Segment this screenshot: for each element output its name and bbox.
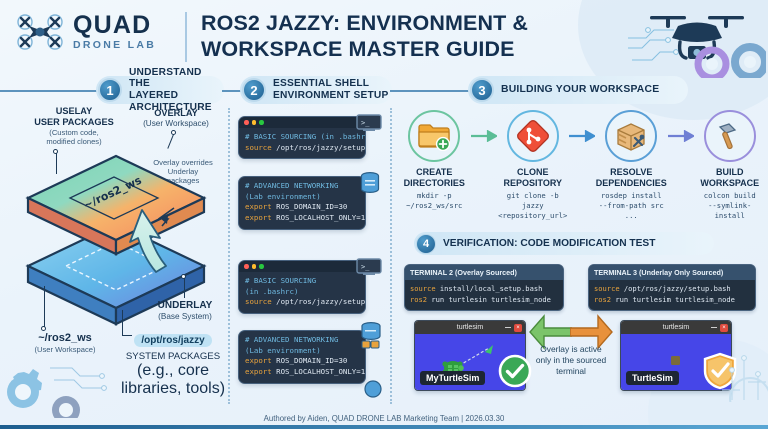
maximize-dot-icon[interactable] [259,120,264,125]
database-icon [360,172,380,194]
terminal-line-cmd: export ROS_LOCALHOST_ONLY=1 [245,213,359,224]
flow-icon-wrap [507,110,559,162]
layered-architecture-panel: USELAY USER PACKAGES (Custom code, modif… [0,104,228,404]
footer-credit: Authored by Aiden, QUAD DRONE LAB Market… [0,414,768,423]
flow-name-l2: REPOSITORY [497,178,570,189]
workspace-flow: CREATE DIRECTORIES mkdir -p ~/ros2_ws/sr… [398,110,766,220]
overlay-title: OVERLAY [130,108,222,119]
page-title-line1: ROS2 JAZZY: ENVIRONMENT & [201,10,621,36]
uselay-subtitle: USER PACKAGES [22,117,126,128]
turtlesim-titlebar: turtlesim × [415,321,525,334]
step-pill-3[interactable]: 3 BUILDING YOUR WORKSPACE [468,76,688,104]
page-title-line2: WORKSPACE MASTER GUIDE [201,36,621,62]
page-title: ROS2 JAZZY: ENVIRONMENT & WORKSPACE MAST… [201,10,621,62]
terminal-line-comment: (Lab environment) [245,192,359,203]
terminal-basic-2[interactable]: # BASIC SOURCING (in .bashrc) source /op… [238,260,366,314]
vterm-keyword: ros2 [594,295,611,304]
terminal-line-comment: (in .bashrc) [245,287,359,298]
column-divider-1 [228,108,230,404]
flow-name-l1: CREATE [398,167,471,178]
verification-header[interactable]: 4 VERIFICATION: CODE MODIFICATION TEST [414,232,714,255]
terminal-line-cmd: export ROS_DOMAIN_ID=30 [245,356,359,367]
flow-step-name: CLONE REPOSITORY [497,167,570,188]
note-line-1: Overlay is active [524,344,618,355]
flow-step-cmd: mkdir -p ~/ros2_ws/src [398,191,471,210]
package-wrench-icon [614,120,648,152]
window-controls[interactable]: × [505,324,522,332]
step-number-2: 2 [242,78,266,102]
vterm-line: source /opt/ros/jazzy/setup.bash [594,284,750,295]
terminal-value: ROS_LOCALHOST_ONLY=1 [272,213,365,222]
terminal-line-comment: # ADVANCED NETWORKING [245,335,359,346]
verification-terminal-3-body: source /opt/ros/jazzy/setup.bash ros2 ru… [589,280,755,310]
terminal-body: # ADVANCED NETWORKING (Lab environment) … [239,177,365,229]
uselay-note1: (Custom code, [22,128,126,137]
verification-terminal-2-body: source install/local_setup.bash ros2 run… [405,280,563,310]
close-dot-icon[interactable] [244,264,249,269]
overlay-slab: ~/ros2_ws [28,156,204,254]
uselay-note2: modified clones) [22,137,126,146]
vterm-value: run turtlesim turtlesim_node [611,295,735,304]
terminal-keyword: export [245,213,272,222]
vterm-line: ros2 run turtlesin turtlesim_node [410,295,558,306]
overlay-active-note: Overlay is active only in the sourced te… [524,344,618,377]
workspace-flow-panel: CREATE DIRECTORIES mkdir -p ~/ros2_ws/sr… [392,106,768,228]
system-packages-label: /opt/ros/jazzy SYSTEM PACKAGES (e.g., co… [118,330,228,398]
minimize-icon[interactable] [711,327,717,329]
flow-name-l1: BUILD [694,167,767,178]
flow-cmd-l2: ~/ros2_ws/src [398,201,471,211]
shell-setup-panel: # BASIC SOURCING (in .bashrc) source /op… [236,108,386,404]
terminal-line-cmd: source /opt/ros/jazzy/setup.bash [245,143,359,154]
leader-ws [44,286,45,328]
step-pill-2[interactable]: 2 ESSENTIAL SHELL ENVIRONMENT SETUP [240,76,392,104]
underlay-label: UNDERLAY (Base System) [142,300,228,322]
minimize-dot-icon[interactable] [252,264,257,269]
flow-arrow-3 [668,110,694,162]
flow-step-name: BUILD WORKSPACE [694,167,767,188]
terminal-keyword: source [245,297,272,306]
window-controls[interactable]: × [711,324,728,332]
folder-plus-icon [417,121,451,151]
flow-step-cmd: rosdep install --from-path src ... [595,191,668,220]
uselay-title: USELAY [22,106,126,117]
terminal-icon: >_ [356,114,382,132]
flow-name-l1: CLONE [497,167,570,178]
node-circle-icon [364,380,382,398]
terminal-body: # ADVANCED NETWORKING (Lab environment) … [239,331,365,383]
verification-title: VERIFICATION: CODE MODIFICATION TEST [443,238,655,249]
close-icon[interactable]: × [514,324,522,332]
terminal-body: # BASIC SOURCING (in .bashrc) source /op… [239,272,365,313]
drone-illustration-icon [626,2,766,78]
overlay-subtitle: (User Workspace) [130,119,222,129]
terminal-value: ROS_DOMAIN_ID=30 [272,356,348,365]
flow-cmd-l2: --from-path src ... [595,201,668,220]
vterm-value: /opt/ros/jazzy/setup.bash [620,284,731,293]
leader-sys-h [122,335,132,336]
close-dot-icon[interactable] [244,120,249,125]
workspace-path-label: ~/ros2_ws (User Workspace) [10,332,120,354]
brand-name: QUAD [73,13,156,38]
terminal-keyword: source [245,143,272,152]
header: QUAD DRONE LAB ROS2 JAZZY: ENVIRONMENT &… [0,0,768,74]
brand-sub: DRONE LAB [73,40,156,51]
terminal-keyword: export [245,356,272,365]
flow-step-create[interactable]: CREATE DIRECTORIES mkdir -p ~/ros2_ws/sr… [398,110,471,211]
step-connector-0 [0,90,98,92]
system-packages-title: SYSTEM PACKAGES [118,351,228,362]
underlay-title: UNDERLAY [142,300,228,312]
step-label-1-line1: UNDERSTAND THE [129,67,224,90]
check-circle-icon [498,354,532,388]
footer-bar [0,425,768,429]
flow-cmd-l2: --symlink-install [694,201,767,220]
server-icon [360,322,382,352]
step-number-1: 1 [98,78,122,102]
terminal-advanced-1[interactable]: # ADVANCED NETWORKING (Lab environment) … [238,176,366,230]
flow-step-resolve[interactable]: RESOLVE DEPENDENCIES rosdep install --fr… [595,110,668,220]
flow-cmd-l1: mkdir -p [398,191,471,201]
workspace-path: ~/ros2_ws [10,332,120,345]
leader-sys-v [122,310,123,336]
flow-icon-wrap [704,110,756,162]
gear-decor-icon [0,362,124,418]
minimize-dot-icon[interactable] [252,120,257,125]
step-bar: 1 UNDERSTAND THE LAYERED ARCHITECTURE 2 … [0,76,768,104]
terminal-value: /opt/ros/jazzy/setup.bash [272,143,366,152]
turtlesim-title: turtlesim [457,324,483,331]
overlay-label: OVERLAY (User Workspace) [130,108,222,129]
verification-number: 4 [416,234,436,254]
note-line-3: terminal [524,366,618,377]
svg-text:>_: >_ [361,263,370,271]
svg-text:>_: >_ [361,119,370,127]
verification-panel: 4 VERIFICATION: CODE MODIFICATION TEST T… [392,232,768,404]
terminal-icon: >_ [356,258,382,276]
flow-cmd-l1: colcon build [694,191,767,201]
brand-text: QUAD DRONE LAB [73,13,156,51]
leader-dot-ws [41,326,46,331]
vterm-keyword: source [594,284,620,293]
close-icon[interactable]: × [720,324,728,332]
terminal-body: # BASIC SOURCING (in .bashrc) source /op… [239,128,365,158]
header-divider [185,12,187,62]
terminal-titlebar [239,117,365,128]
maximize-dot-icon[interactable] [259,264,264,269]
flow-step-cmd: git clone -b jazzy <repository_url> [497,191,570,220]
terminal-line-comment: # BASIC SOURCING (in .bashrc) [245,132,359,143]
step-label-3: BUILDING YOUR WORKSPACE [501,84,659,96]
flow-name-l2: DEPENDENCIES [595,178,668,189]
verification-terminal-3-header: TERMINAL 3 (Underlay Only Sourced) [589,265,755,280]
terminal-basic-1[interactable]: # BASIC SOURCING (in .bashrc) source /op… [238,116,366,159]
terminal-line-cmd: export ROS_LOCALHOST_ONLY=1 [245,367,359,378]
minimize-icon[interactable] [505,327,511,329]
terminal-value: ROS_DOMAIN_ID=30 [272,202,348,211]
infographic-page: QUAD DRONE LAB ROS2 JAZZY: ENVIRONMENT &… [0,0,768,429]
terminal-line-comment: (Lab environment) [245,346,359,357]
circuit-decor-icon [714,346,768,402]
leader-underlay [184,278,185,298]
flow-cmd-l1: git clone -b jazzy [497,191,570,210]
drone-icon [14,12,66,52]
underlay-subtitle: (Base System) [142,312,228,322]
step-connector-1 [222,90,242,92]
step-number-3: 3 [470,78,494,102]
vterm-value: install/local_setup.bash [436,284,543,293]
terminal-line-comment: # ADVANCED NETWORKING [245,181,359,192]
git-icon [517,120,549,152]
verification-terminal-2[interactable]: TERMINAL 2 (Overlay Sourced) source inst… [404,264,564,311]
terminal-line-cmd: export ROS_DOMAIN_ID=30 [245,202,359,213]
leader-dot-overlay [171,130,176,135]
system-packages-sub: (e.g., core libraries, tools) [118,362,228,398]
system-path-chip: /opt/ros/jazzy [134,334,211,347]
flow-step-cmd: colcon build --symlink-install [694,191,767,220]
flow-name-l2: WORKSPACE [694,178,767,189]
verification-terminal-2-header: TERMINAL 2 (Overlay Sourced) [405,265,563,280]
terminal-titlebar [239,261,365,272]
terminal-value: ROS_LOCALHOST_ONLY=1 [272,367,365,376]
leader-dot-underlay [181,274,186,279]
vterm-keyword: source [410,284,436,293]
vterm-line: ros2 run turtlesim turtlesim_node [594,295,750,306]
flow-icon-wrap [605,110,657,162]
flow-cmd-l2: <repository_url> [497,211,570,221]
terminal-line-comment: # BASIC SOURCING [245,276,359,287]
flow-step-clone[interactable]: CLONE REPOSITORY git clone -b jazzy <rep… [497,110,570,220]
vterm-value: run turtlesin turtlesim_node [427,295,551,304]
turtlesim-tag-overlay: MyTurtleSim [420,371,485,385]
note-line-2: only in the sourced [524,355,618,366]
brand-logo: QUAD DRONE LAB [14,12,156,52]
turtlesim-title: turtlesim [663,324,689,331]
turtlesim-titlebar: turtlesim × [621,321,731,334]
step-label-2-line2: ENVIRONMENT SETUP [273,90,388,102]
workspace-path-sub: (User Workspace) [10,345,120,354]
flow-icon-wrap [408,110,460,162]
flow-cmd-l1: rosdep install [595,191,668,201]
step-label-2-line1: ESSENTIAL SHELL [273,78,388,90]
flow-arrow-2 [569,110,595,162]
vterm-line: source install/local_setup.bash [410,284,558,295]
terminal-keyword: export [245,367,272,376]
step-label-2: ESSENTIAL SHELL ENVIRONMENT SETUP [273,78,388,101]
terminal-line-cmd: source /opt/ros/jazzy/setup.bash [245,297,359,308]
verification-terminal-3[interactable]: TERMINAL 3 (Underlay Only Sourced) sourc… [588,264,756,311]
turtlesim-tag-underlay: TurtleSim [626,371,679,385]
flow-name-l1: RESOLVE [595,167,668,178]
uselay-label: USELAY USER PACKAGES (Custom code, modif… [22,106,126,146]
flow-step-build[interactable]: BUILD WORKSPACE colcon build --symlink-i… [694,110,767,220]
flow-arrow-1 [471,110,497,162]
flow-name-l2: DIRECTORIES [398,178,471,189]
terminal-advanced-2[interactable]: # ADVANCED NETWORKING (Lab environment) … [238,330,366,384]
step-connector-2 [390,90,470,92]
step-pill-1[interactable]: 1 UNDERSTAND THE LAYERED ARCHITECTURE [96,76,224,104]
flow-step-name: CREATE DIRECTORIES [398,167,471,188]
terminal-keyword: export [245,202,272,211]
hammer-icon [714,120,746,152]
terminal-value: /opt/ros/jazzy/setup.bash [272,297,366,306]
vterm-keyword: ros2 [410,295,427,304]
flow-step-name: RESOLVE DEPENDENCIES [595,167,668,188]
